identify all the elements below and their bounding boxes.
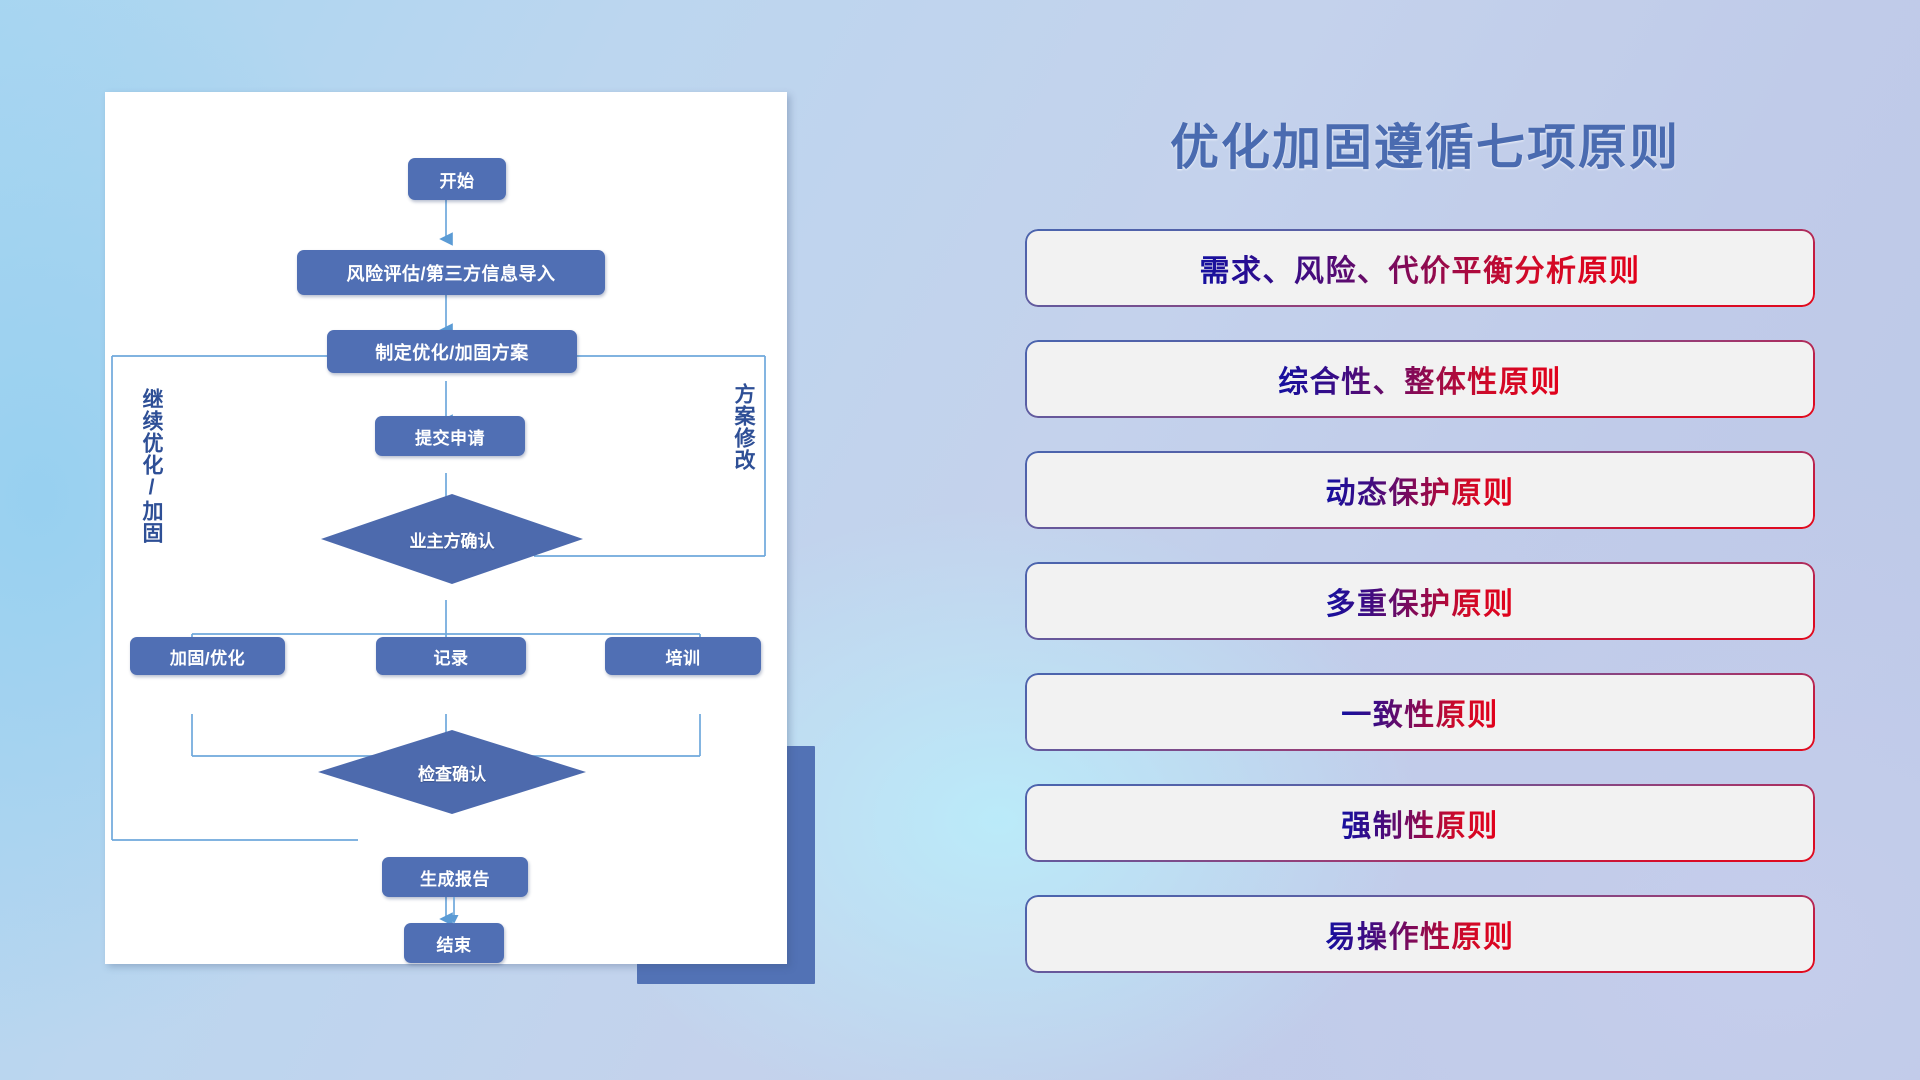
principles-panel: 优化加固遵循七项原则 需求、风险、代价平衡分析原则 综合性、整体性原则 动态保护… (930, 0, 1920, 1080)
flow-node-owner-confirm-label: 业主方确认 (410, 527, 495, 552)
flow-node-check-confirm-label: 检查确认 (418, 760, 486, 785)
principle-card-label: 多重保护原则 (1326, 579, 1515, 623)
principle-card-label: 综合性、整体性原则 (1278, 357, 1562, 401)
principle-card[interactable]: 综合性、整体性原则 (1025, 340, 1815, 418)
principle-card[interactable]: 一致性原则 (1025, 673, 1815, 751)
flow-edge-label-plan-revision: 方案修改 (733, 383, 754, 471)
principle-card-label: 需求、风险、代价平衡分析原则 (1200, 246, 1641, 290)
principle-card[interactable]: 多重保护原则 (1025, 562, 1815, 640)
principles-card-list: 需求、风险、代价平衡分析原则 综合性、整体性原则 动态保护原则 多重保护原则 一… (1025, 229, 1815, 1006)
principle-card[interactable]: 动态保护原则 (1025, 451, 1815, 529)
flow-edge-label-continue-optimize: 继续优化/加固 (141, 388, 162, 544)
principle-card-label: 强制性原则 (1341, 801, 1499, 845)
principle-card[interactable]: 易操作性原则 (1025, 895, 1815, 973)
principle-card-label: 一致性原则 (1341, 690, 1499, 734)
principle-card-label: 动态保护原则 (1326, 468, 1515, 512)
page-title: 优化加固遵循七项原则 (930, 108, 1920, 179)
flowchart-panel: 开始 风险评估/第三方信息导入 制定优化/加固方案 提交申请 业主方确认 加固/… (0, 0, 930, 1080)
principle-card-label: 易操作性原则 (1326, 912, 1515, 956)
principle-card[interactable]: 需求、风险、代价平衡分析原则 (1025, 229, 1815, 307)
principle-card[interactable]: 强制性原则 (1025, 784, 1815, 862)
